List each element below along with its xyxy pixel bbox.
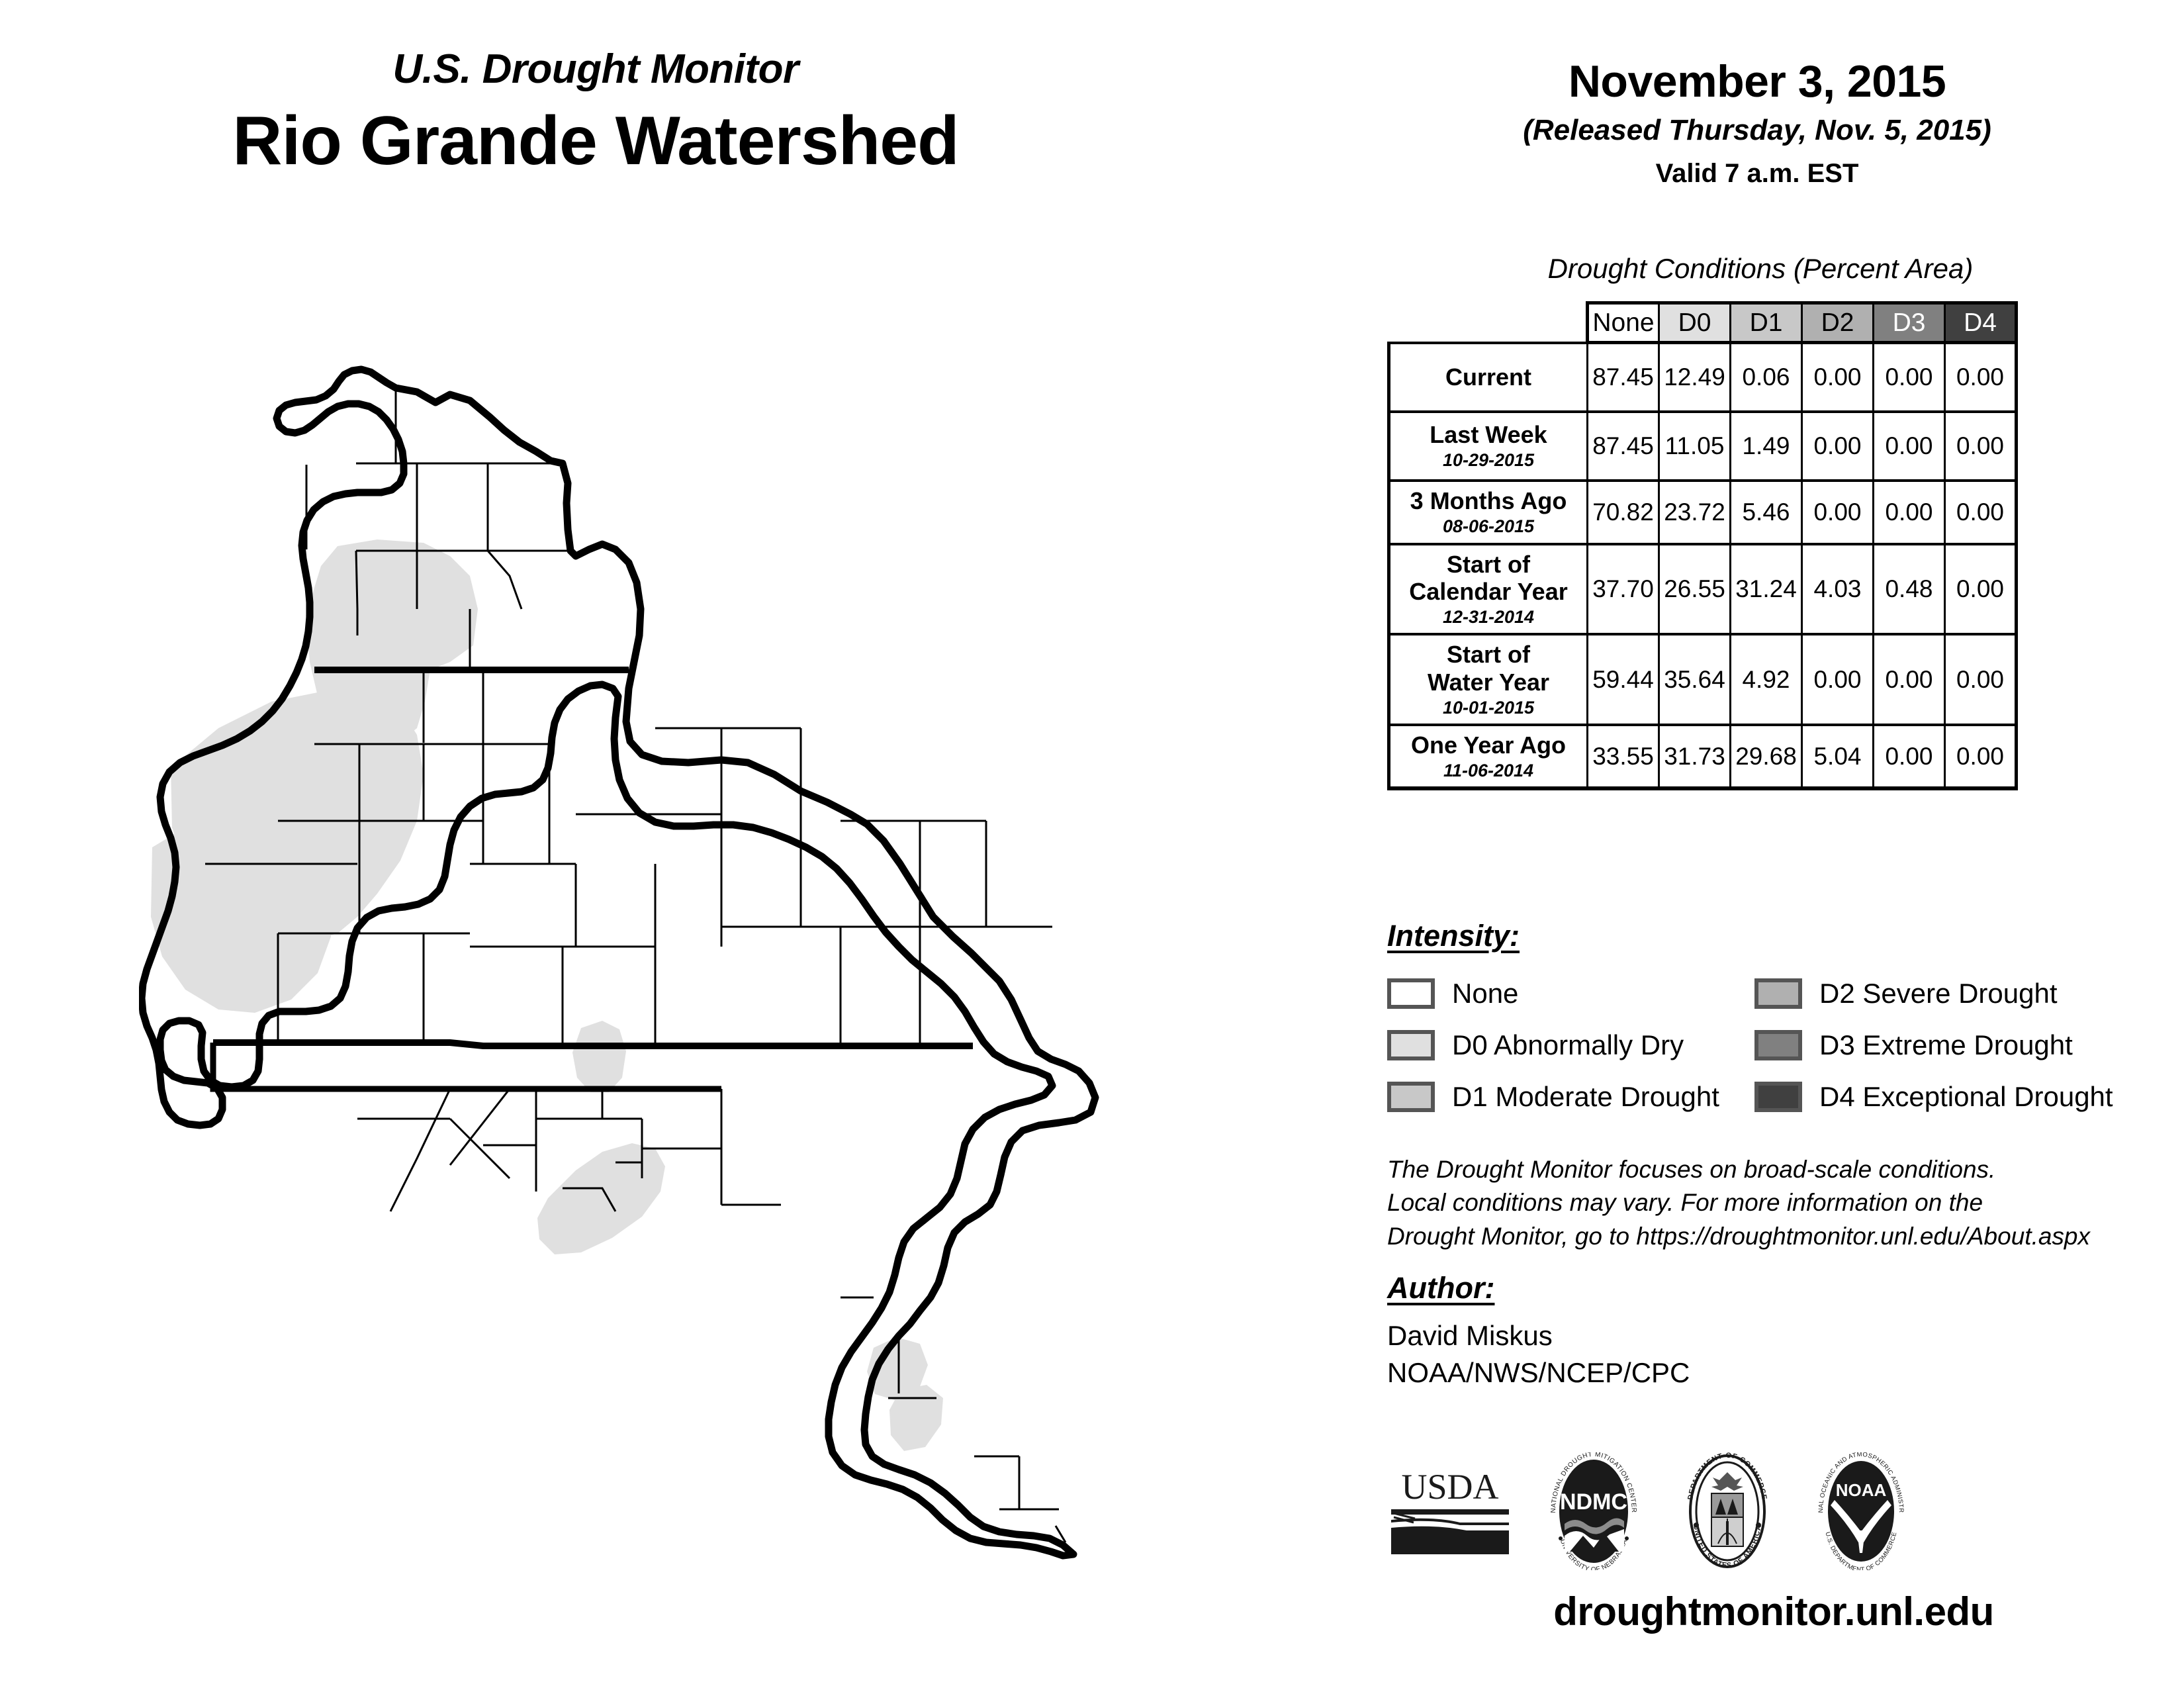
table-corner-blank [1389, 303, 1588, 343]
table-row: Current 87.45 12.49 0.06 0.00 0.00 0.00 [1389, 343, 2017, 412]
author-affiliation: NOAA/NWS/NCEP/CPC [1387, 1354, 1690, 1391]
legend-item-d1: D1 Moderate Drought [1387, 1082, 1754, 1112]
author-block: David Miskus NOAA/NWS/NCEP/CPC [1387, 1317, 1690, 1392]
legend-item-none: None [1387, 978, 1754, 1009]
info-panel: November 3, 2015 (Released Thursday, Nov… [1363, 0, 2184, 1688]
author-heading: Author: [1387, 1271, 1494, 1305]
cell-current-d3: 0.00 [1874, 343, 1945, 412]
doc-logo: DEPARTMENT OF COMMERCE UNITED STATES OF … [1674, 1452, 1780, 1573]
cell-current-d4: 0.00 [1945, 343, 2017, 412]
cell-lastweek-none: 87.45 [1588, 412, 1659, 481]
legend-swatch-d4-icon [1754, 1082, 1802, 1112]
noaa-logo-text: NOAA [1836, 1480, 1887, 1500]
date-block: November 3, 2015 (Released Thursday, Nov… [1363, 58, 2151, 188]
row-label-text: Start ofWater Year [1428, 641, 1549, 696]
legend-label-d3: D3 Extreme Drought [1819, 1031, 2073, 1059]
cell-current-none: 87.45 [1588, 343, 1659, 412]
map-panel: U.S. Drought Monitor Rio Grande Watershe… [0, 0, 1363, 1688]
legend-item-d4: D4 Exceptional Drought [1754, 1082, 2168, 1112]
cell-wateryear-d0: 35.64 [1659, 634, 1731, 725]
cell-oneyear-d1: 29.68 [1731, 725, 1802, 788]
cell-current-d0: 12.49 [1659, 343, 1731, 412]
usda-logo-svg: USDA [1387, 1462, 1513, 1561]
cell-calyear-d2: 4.03 [1802, 544, 1874, 635]
cell-wateryear-d3: 0.00 [1874, 634, 1945, 725]
ndmc-logo-text: NDMC [1560, 1489, 1627, 1515]
intensity-legend: None D2 Severe Drought D0 Abnormally Dry… [1387, 968, 2168, 1123]
table-row: One Year Ago 11-06-2014 33.55 31.73 29.6… [1389, 725, 2017, 788]
row-label-text: Current [1445, 363, 1531, 391]
ndmc-logo: NATIONAL DROUGHT MITIGATION CENTER UNIVE… [1541, 1452, 1647, 1573]
table-header-row: None D0 D1 D2 D3 D4 [1389, 303, 2017, 343]
cell-3months-d4: 0.00 [1945, 481, 2017, 544]
row-label-date: 10-01-2015 [1393, 698, 1584, 718]
intensity-heading: Intensity: [1387, 919, 1520, 953]
doc-logo-svg: DEPARTMENT OF COMMERCE UNITED STATES OF … [1674, 1452, 1780, 1570]
drought-map[interactable] [139, 265, 1264, 1562]
row-label-3-months-ago: 3 Months Ago 08-06-2015 [1389, 481, 1588, 544]
legend-label-d4: D4 Exceptional Drought [1819, 1083, 2113, 1111]
row-label-text: Start ofCalendar Year [1409, 551, 1567, 606]
table-row: Start ofCalendar Year 12-31-2014 37.70 2… [1389, 544, 2017, 635]
legend-item-d0: D0 Abnormally Dry [1387, 1030, 1754, 1060]
cell-current-d2: 0.00 [1802, 343, 1874, 412]
cell-lastweek-d2: 0.00 [1802, 412, 1874, 481]
cell-wateryear-d4: 0.00 [1945, 634, 2017, 725]
cell-3months-none: 70.82 [1588, 481, 1659, 544]
row-label-current: Current [1389, 343, 1588, 412]
map-d0-regions [151, 539, 943, 1451]
cell-current-d1: 0.06 [1731, 343, 1802, 412]
page-title: Rio Grande Watershed [0, 102, 1191, 181]
footer-url[interactable]: droughtmonitor.unl.edu [1363, 1589, 2184, 1634]
row-label-date: 10-29-2015 [1393, 450, 1584, 471]
legend-swatch-d0-icon [1387, 1030, 1435, 1060]
cell-lastweek-d3: 0.00 [1874, 412, 1945, 481]
usda-logo-text: USDA [1401, 1467, 1498, 1507]
valid-time: Valid 7 a.m. EST [1363, 159, 2151, 188]
legend-label-d2: D2 Severe Drought [1819, 980, 2058, 1008]
cell-calyear-d0: 26.55 [1659, 544, 1731, 635]
legend-item-d3: D3 Extreme Drought [1754, 1030, 2168, 1060]
cell-calyear-none: 37.70 [1588, 544, 1659, 635]
noaa-logo: NATIONAL OCEANIC AND ATMOSPHERIC ADMINIS… [1808, 1452, 1914, 1573]
legend-swatch-none-icon [1387, 978, 1435, 1009]
noaa-logo-svg: NATIONAL OCEANIC AND ATMOSPHERIC ADMINIS… [1808, 1452, 1914, 1570]
cell-lastweek-d1: 1.49 [1731, 412, 1802, 481]
map-svg[interactable] [139, 265, 1264, 1562]
table-row: Start ofWater Year 10-01-2015 59.44 35.6… [1389, 634, 2017, 725]
cell-3months-d0: 23.72 [1659, 481, 1731, 544]
cell-oneyear-d4: 0.00 [1945, 725, 2017, 788]
disclaimer-line-3: Drought Monitor, go to https://droughtmo… [1387, 1220, 2168, 1253]
column-header-d1: D1 [1731, 303, 1802, 343]
legend-swatch-d3-icon [1754, 1030, 1802, 1060]
cell-lastweek-d4: 0.00 [1945, 412, 2017, 481]
table-row: 3 Months Ago 08-06-2015 70.82 23.72 5.46… [1389, 481, 2017, 544]
title-block: U.S. Drought Monitor Rio Grande Watershe… [0, 49, 1191, 181]
ndmc-logo-svg: NATIONAL DROUGHT MITIGATION CENTER UNIVE… [1541, 1452, 1647, 1570]
cell-oneyear-d2: 5.04 [1802, 725, 1874, 788]
drought-conditions-table: None D0 D1 D2 D3 D4 Current 87.45 12.49 … [1387, 301, 2018, 790]
column-header-d3: D3 [1874, 303, 1945, 343]
row-label-date: 08-06-2015 [1393, 516, 1584, 537]
row-label-start-of-calendar-year: Start ofCalendar Year 12-31-2014 [1389, 544, 1588, 635]
cell-3months-d2: 0.00 [1802, 481, 1874, 544]
column-header-d0: D0 [1659, 303, 1731, 343]
legend-label-d1: D1 Moderate Drought [1452, 1083, 1719, 1111]
cell-oneyear-d3: 0.00 [1874, 725, 1945, 788]
row-label-text: 3 Months Ago [1410, 487, 1567, 514]
cell-oneyear-none: 33.55 [1588, 725, 1659, 788]
disclaimer-line-1: The Drought Monitor focuses on broad-sca… [1387, 1153, 2168, 1186]
legend-label-d0: D0 Abnormally Dry [1452, 1031, 1684, 1059]
row-label-text: Last Week [1430, 421, 1547, 448]
cell-oneyear-d0: 31.73 [1659, 725, 1731, 788]
product-subtitle: U.S. Drought Monitor [0, 49, 1191, 90]
column-header-d2: D2 [1802, 303, 1874, 343]
cell-lastweek-d0: 11.05 [1659, 412, 1731, 481]
disclaimer-text: The Drought Monitor focuses on broad-sca… [1387, 1153, 2168, 1253]
cell-calyear-d4: 0.00 [1945, 544, 2017, 635]
row-label-text: One Year Ago [1411, 731, 1566, 759]
table-row: Last Week 10-29-2015 87.45 11.05 1.49 0.… [1389, 412, 2017, 481]
author-name: David Miskus [1387, 1317, 1690, 1354]
cell-wateryear-d2: 0.00 [1802, 634, 1874, 725]
agency-logos: USDA NATIONAL DROUGHT MITIGATION CENTER [1387, 1450, 2168, 1575]
release-date: (Released Thursday, Nov. 5, 2015) [1363, 115, 2151, 146]
column-header-none: None [1588, 303, 1659, 343]
table-caption: Drought Conditions (Percent Area) [1363, 253, 2158, 285]
legend-swatch-d1-icon [1387, 1082, 1435, 1112]
row-label-date: 12-31-2014 [1393, 607, 1584, 628]
legend-item-d2: D2 Severe Drought [1754, 978, 2168, 1009]
legend-swatch-d2-icon [1754, 978, 1802, 1009]
row-label-date: 11-06-2014 [1393, 761, 1584, 781]
row-label-start-of-water-year: Start ofWater Year 10-01-2015 [1389, 634, 1588, 725]
usda-logo: USDA [1387, 1462, 1513, 1564]
column-header-d4: D4 [1945, 303, 2017, 343]
row-label-last-week: Last Week 10-29-2015 [1389, 412, 1588, 481]
valid-date: November 3, 2015 [1363, 58, 2151, 105]
cell-3months-d1: 5.46 [1731, 481, 1802, 544]
row-label-one-year-ago: One Year Ago 11-06-2014 [1389, 725, 1588, 788]
cell-calyear-d3: 0.48 [1874, 544, 1945, 635]
legend-label-none: None [1452, 980, 1518, 1008]
disclaimer-line-2: Local conditions may vary. For more info… [1387, 1186, 2168, 1219]
cell-wateryear-d1: 4.92 [1731, 634, 1802, 725]
cell-3months-d3: 0.00 [1874, 481, 1945, 544]
cell-calyear-d1: 31.24 [1731, 544, 1802, 635]
cell-wateryear-none: 59.44 [1588, 634, 1659, 725]
